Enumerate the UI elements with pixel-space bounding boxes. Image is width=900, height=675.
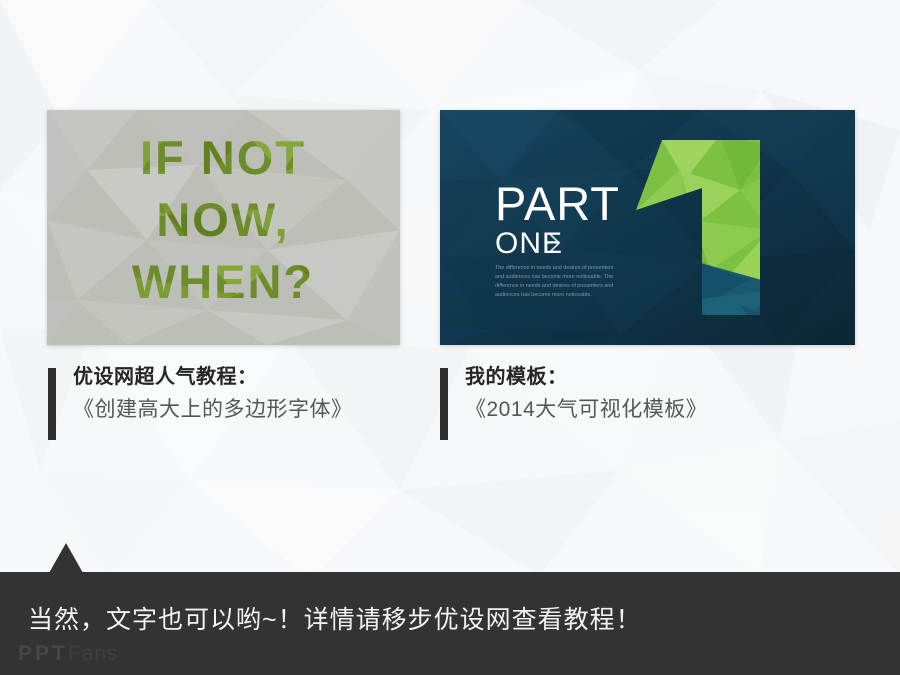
if-not-now-when-artwork: IF NOT NOW, WHEN? bbox=[47, 110, 400, 345]
svg-text:difference in needs and desire: difference in needs and desires of prese… bbox=[495, 283, 613, 289]
part-one-artwork: PART ONE The difference in needs and des… bbox=[440, 110, 855, 345]
caption-right-subtitle: 《2014大气可视化模板》 bbox=[465, 398, 707, 422]
slide-canvas: IF NOT NOW, WHEN? bbox=[0, 0, 900, 675]
svg-text:audiences has become more noti: audiences has become more noticeable. bbox=[495, 292, 592, 298]
caption-left-text: 优设网超人气教程： 《创建高大上的多边形字体》 bbox=[73, 366, 353, 422]
thumbnail-if-not-now-when[interactable]: IF NOT NOW, WHEN? bbox=[47, 110, 400, 345]
banner-callout-arrow bbox=[49, 543, 83, 573]
thumbnail-part-one-template[interactable]: PART ONE The difference in needs and des… bbox=[440, 110, 855, 345]
logo-ppt: PPT bbox=[18, 642, 68, 665]
caption-left: 优设网超人气教程： 《创建高大上的多边形字体》 bbox=[48, 366, 428, 440]
caption-right-text: 我的模板： 《2014大气可视化模板》 bbox=[465, 366, 707, 422]
caption-right-title: 我的模板： bbox=[465, 366, 707, 389]
svg-text:The difference in needs and de: The difference in needs and desires of p… bbox=[495, 265, 614, 271]
caption-right: 我的模板： 《2014大气可视化模板》 bbox=[440, 366, 840, 440]
caption-accent-bar bbox=[440, 368, 448, 440]
banner-text: 当然，文字也可以哟~！详情请移步优设网查看教程！ bbox=[28, 600, 642, 636]
logo-fans: Fans bbox=[68, 642, 119, 665]
svg-text:and audiences has become more: and audiences has become more noticeable… bbox=[495, 274, 613, 280]
pptfans-logo: PPTFans bbox=[18, 643, 119, 664]
caption-accent-bar bbox=[48, 368, 56, 440]
caption-left-subtitle: 《创建高大上的多边形字体》 bbox=[73, 398, 353, 422]
caption-left-title: 优设网超人气教程： bbox=[73, 366, 353, 389]
part-heading: PART bbox=[495, 177, 620, 230]
one-subheading: ONE bbox=[495, 227, 563, 260]
